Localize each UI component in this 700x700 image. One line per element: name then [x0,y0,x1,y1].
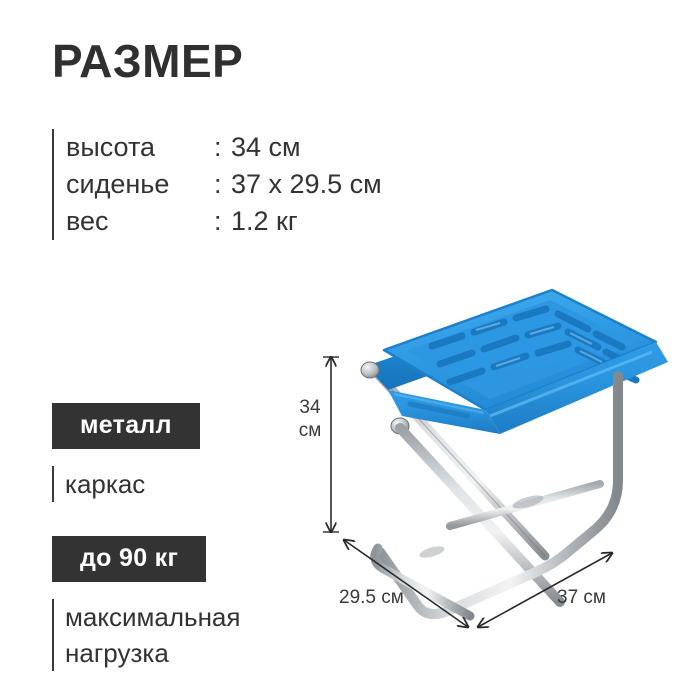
feature-max-load: до 90 кг максимальная нагрузка [52,536,240,671]
spec-label-weight: вес [66,203,214,240]
spec-colon-weight: : [214,203,231,240]
dimension-label-height-unit: см [294,419,326,442]
feature-max-load-caption-text: максимальная нагрузка [54,599,240,671]
spec-value-seat: 37 x 29.5 см [231,166,382,203]
spec-value-weight: 1.2 кг [231,203,298,240]
spec-label-seat: сиденье [66,166,214,203]
spec-colon-height: : [214,129,231,166]
feature-max-load-caption-line2: нагрузка [65,635,240,671]
pivot-cap-left [361,362,379,378]
badge-material: металл [52,403,200,449]
spec-row-weight: вес : 1.2 кг [66,203,382,240]
page-title: РАЗМЕР [52,38,243,84]
dimension-label-width: 37 см [557,586,606,609]
spec-value-height: 34 см [231,129,301,166]
spec-row-seat: сиденье : 37 x 29.5 см [66,166,382,203]
dimension-label-height-value: 34 [294,396,326,419]
spec-colon-seat: : [214,166,231,203]
feature-max-load-caption: максимальная нагрузка [52,599,240,671]
specs-block: высота : 34 см сиденье : 37 x 29.5 см ве… [52,129,382,240]
feature-material-caption: каркас [52,466,200,502]
spec-label-height: высота [66,129,214,166]
leg-hinge-detail-lower [418,544,445,560]
dimension-label-height: 34 см [294,396,326,442]
spec-row-height: высота : 34 см [66,129,382,166]
feature-max-load-caption-line1: максимальная [65,599,240,635]
specs-rows: высота : 34 см сиденье : 37 x 29.5 см ве… [54,129,382,240]
feature-material: металл каркас [52,403,200,502]
badge-max-load: до 90 кг [52,536,206,582]
feature-material-caption-text: каркас [54,466,145,502]
dimension-label-depth: 29.5 см [339,586,404,609]
